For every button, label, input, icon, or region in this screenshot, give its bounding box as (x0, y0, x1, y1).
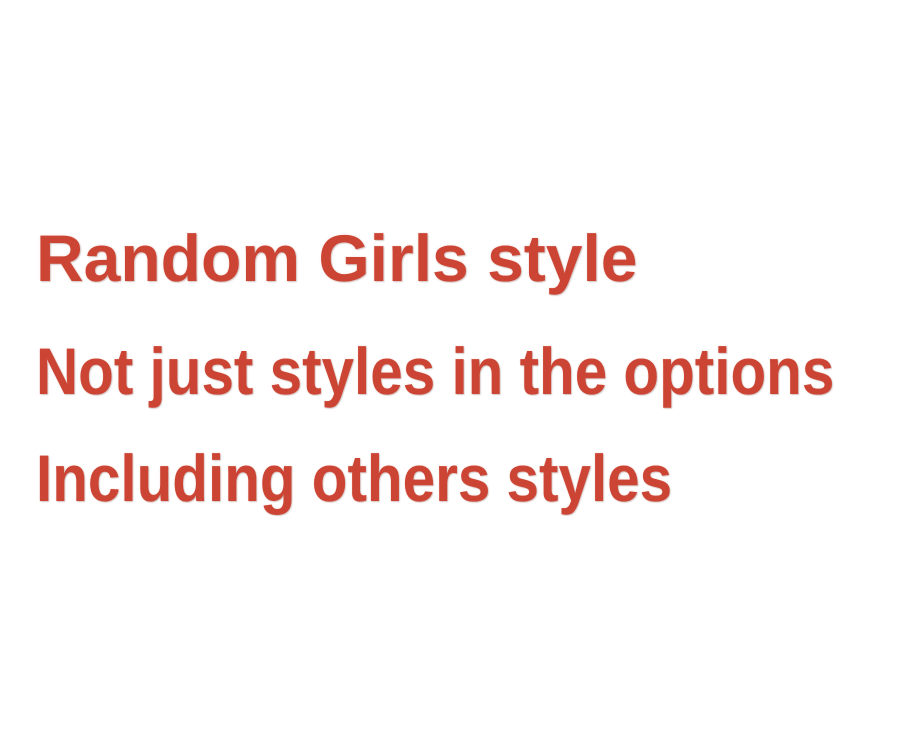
headline-line-2: Not just styles in the options (36, 335, 834, 407)
promotional-text-block: Random Girls style Not just styles in th… (36, 0, 909, 733)
headline-line-1: Random Girls style (36, 222, 638, 294)
headline-line-3: Including others styles (36, 442, 672, 514)
image-canvas: Random Girls style Not just styles in th… (0, 0, 909, 733)
